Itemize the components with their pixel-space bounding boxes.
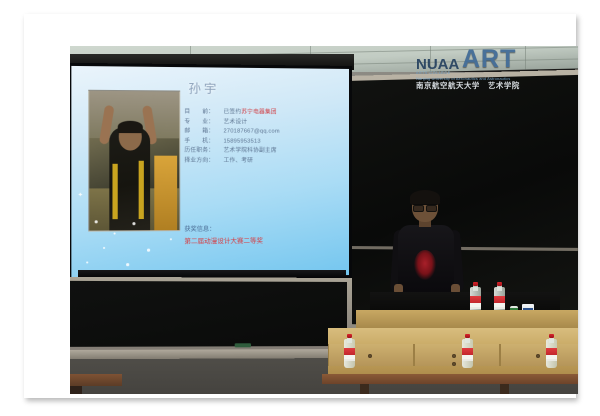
projection-screen: 孙宇 目 前：已签约苏宁电器集团 专 业：艺术设计 邮	[70, 63, 352, 281]
wooden-desk	[328, 328, 578, 376]
slide-portrait-photo	[88, 90, 180, 232]
star-decoration	[86, 261, 88, 263]
lecture-hall-scene: NUAA ART ARTS COLLEGE Nanjing University…	[70, 46, 578, 394]
watermark-arts-college-text: ARTS COLLEGE	[416, 71, 451, 75]
star-decoration	[95, 220, 98, 223]
desk-leg	[500, 384, 509, 394]
slide-info-label: 邮 箱：	[184, 127, 223, 137]
desk-back-row	[356, 310, 578, 328]
slide-info-label: 择业方向：	[184, 157, 223, 167]
slide-info-value: 工作、考研	[223, 158, 253, 164]
water-bottle-front-left	[344, 334, 355, 368]
slide-info-value: 艺术学院科协副主席	[223, 148, 276, 154]
blackboard-lower	[70, 277, 352, 360]
water-bottle-front-right	[546, 334, 557, 368]
chalk-eraser	[235, 343, 251, 347]
slide-title: 孙宇	[188, 79, 219, 97]
star-decoration	[170, 238, 172, 240]
desk-leg	[360, 384, 369, 394]
tshirt-graphic	[414, 250, 436, 280]
star-decoration: ✦	[78, 192, 83, 199]
watermark-art-text: ART	[462, 46, 516, 74]
slide-info-row: 邮 箱：270187667@qq.com	[184, 127, 339, 137]
slide-info-row: 历任职务：艺术学院科协副主席	[184, 147, 339, 157]
blackboard-lower-surface	[70, 281, 347, 347]
slide-award-value: 第二届动漫设计大赛二等奖	[184, 236, 263, 246]
slide-info-value: 270187667@qq.com	[223, 129, 279, 135]
photo-frame: NUAA ART ARTS COLLEGE Nanjing University…	[24, 14, 576, 398]
desk-front-edge	[322, 374, 578, 384]
star-decoration	[114, 232, 116, 234]
slide-info-label: 历任职务：	[184, 147, 223, 157]
glasses-icon	[413, 204, 437, 210]
desk-leg	[70, 386, 82, 394]
slide-info-value: 已签约	[223, 109, 241, 115]
slide-info-row: 手 机：15895953513	[184, 137, 339, 147]
star-decoration	[147, 249, 150, 252]
blackboard-lower-chalk-tray	[70, 349, 348, 359]
slide-award-heading: 获奖信息：	[184, 224, 215, 233]
water-bottle-front-center	[462, 334, 473, 368]
slide-info-label: 专 业：	[184, 118, 223, 128]
slide-info-highlight: 苏宁电器集团	[241, 109, 276, 115]
slide-info-label: 目 前：	[184, 108, 223, 118]
slide-info-row: 择业方向：工作、考研	[184, 157, 339, 167]
projected-slide: 孙宇 目 前：已签约苏宁电器集团 专 业：艺术设计 邮	[71, 66, 349, 278]
watermark-university-chinese-text: 南京航空航天大学 艺术学院	[416, 80, 520, 91]
star-decoration	[126, 263, 129, 266]
slide-info-value: 15895953513	[223, 138, 260, 144]
star-decoration	[132, 222, 135, 225]
nuaa-art-watermark: NUAA ART ARTS COLLEGE Nanjing University…	[410, 46, 578, 88]
slide-info-list: 目 前：已签约苏宁电器集团 专 业：艺术设计 邮 箱：270187667@qq.…	[184, 108, 339, 167]
slide-info-label: 手 机：	[184, 137, 223, 147]
desk-side-left	[70, 374, 122, 386]
slide-info-value: 艺术设计	[223, 119, 247, 125]
star-decoration	[103, 247, 105, 249]
